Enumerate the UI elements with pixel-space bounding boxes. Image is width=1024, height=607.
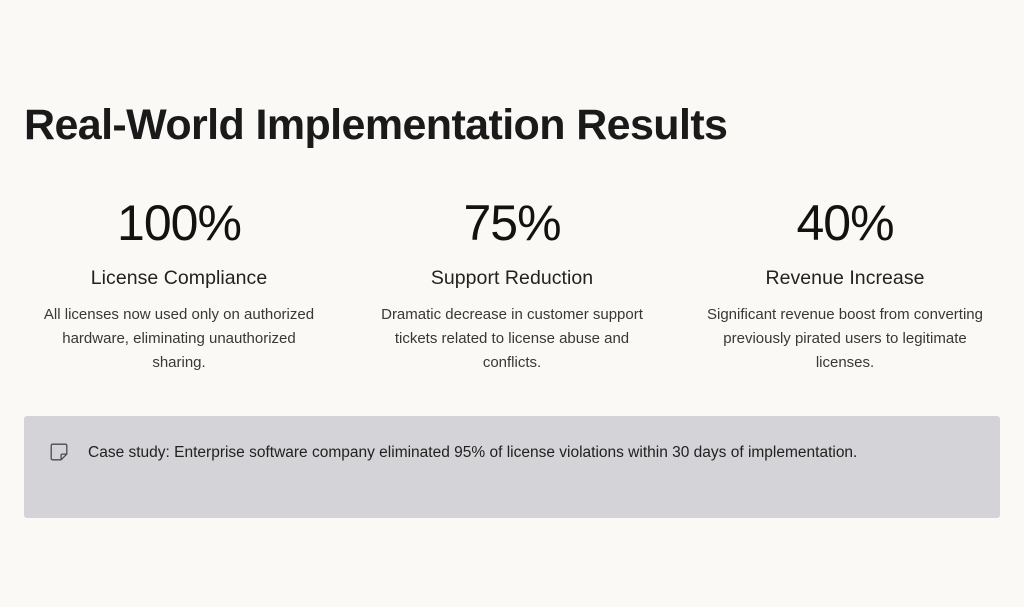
- stat-value: 40%: [690, 192, 1000, 254]
- page-title: Real-World Implementation Results: [24, 97, 727, 153]
- stat-card-support-reduction: 75% Support Reduction Dramatic decrease …: [357, 192, 667, 375]
- stat-label: License Compliance: [24, 265, 334, 291]
- sticky-note-icon: [50, 443, 68, 461]
- stat-description: Significant revenue boost from convertin…: [700, 303, 990, 375]
- stat-value: 75%: [357, 192, 667, 254]
- stat-description: Dramatic decrease in customer support ti…: [367, 303, 657, 375]
- stat-label: Revenue Increase: [690, 265, 1000, 291]
- stat-label: Support Reduction: [357, 265, 667, 291]
- stat-card-license-compliance: 100% License Compliance All licenses now…: [24, 192, 334, 375]
- case-study-text: Case study: Enterprise software company …: [88, 439, 888, 466]
- stat-value: 100%: [24, 192, 334, 254]
- case-study-callout: Case study: Enterprise software company …: [24, 416, 1000, 518]
- results-section: Real-World Implementation Results 100% L…: [0, 0, 1024, 607]
- stat-card-revenue-increase: 40% Revenue Increase Significant revenue…: [690, 192, 1000, 375]
- stat-description: All licenses now used only on authorized…: [34, 303, 324, 375]
- stats-row: 100% License Compliance All licenses now…: [24, 192, 1000, 375]
